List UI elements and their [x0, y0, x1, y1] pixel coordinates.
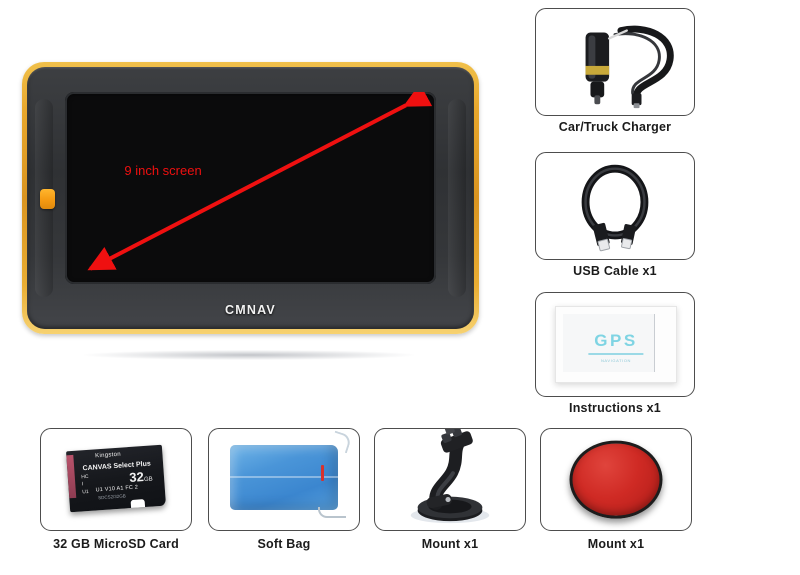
- bag-red-tag: [321, 465, 324, 481]
- booklet-cover: GPS NAVIGATION: [555, 306, 677, 382]
- device-side-groove-right: [448, 99, 466, 297]
- card-part-code: SDCS2/32GB: [98, 494, 126, 501]
- accessory-panel-mount-suction: [374, 428, 526, 531]
- device-drop-shadow: [84, 350, 414, 360]
- card-rating: U1 V10 A1 FC 2: [95, 484, 138, 493]
- device-inner-body: 9 inch screen CMNAV: [27, 67, 474, 329]
- card-capacity: 32GB: [129, 469, 153, 486]
- usb-cable-icon: [536, 153, 694, 259]
- card-class-badges: HCIU1: [81, 474, 90, 496]
- card-bottom-notch: [131, 499, 145, 509]
- microsd-card-icon: Kingston CANVAS Select Plus 32GB HCIU1 U…: [41, 429, 191, 530]
- label-instructions: Instructions x1: [535, 401, 695, 415]
- accessory-panel-car-truck-charger: [535, 8, 695, 116]
- card-side-stripe: [66, 455, 76, 499]
- label-soft-bag: Soft Bag: [208, 537, 360, 551]
- power-button[interactable]: [40, 189, 55, 209]
- label-microsd-card: 32 GB MicroSD Card: [30, 537, 202, 551]
- booklet-logo-rule: [588, 353, 643, 355]
- gps-device-image: 9 inch screen CMNAV: [22, 62, 479, 334]
- suction-mount-icon: [375, 429, 525, 530]
- label-mount-disc: Mount x1: [540, 537, 692, 551]
- label-car-truck-charger: Car/Truck Charger: [535, 120, 695, 134]
- product-accessory-layout: 9 inch screen CMNAV: [0, 0, 800, 575]
- accessory-panel-microsd-card: Kingston CANVAS Select Plus 32GB HCIU1 U…: [40, 428, 192, 531]
- card-brand: Kingston: [95, 451, 121, 459]
- dashboard-disc-icon: [541, 429, 691, 530]
- accessory-panel-usb-cable: [535, 152, 695, 260]
- device-screen: 9 inch screen: [65, 92, 436, 284]
- booklet-logo-subtitle: NAVIGATION: [601, 358, 631, 363]
- accessory-panel-instructions: GPS NAVIGATION: [535, 292, 695, 397]
- soft-bag-body: [230, 445, 338, 510]
- booklet-gps-logo: GPS: [594, 331, 637, 351]
- device-brand-logo: CMNAV: [27, 303, 474, 317]
- instruction-booklet-icon: GPS NAVIGATION: [536, 293, 694, 396]
- bag-drawstring-bottom: [318, 507, 346, 518]
- disc-mount-body: [570, 440, 663, 519]
- accessory-panel-mount-disc: [540, 428, 692, 531]
- label-mount-suction: Mount x1: [374, 537, 526, 551]
- soft-bag-icon: [209, 429, 359, 530]
- car-charger-icon: [536, 9, 694, 115]
- card-capacity-unit: GB: [144, 477, 153, 484]
- card-capacity-value: 32: [129, 469, 144, 485]
- microsd-card-body: Kingston CANVAS Select Plus 32GB HCIU1 U…: [66, 445, 166, 512]
- diagonal-measure-arrow: [65, 92, 436, 284]
- device-outer-bezel: 9 inch screen CMNAV: [22, 62, 479, 334]
- label-usb-cable: USB Cable x1: [535, 264, 695, 278]
- accessory-panel-soft-bag: [208, 428, 360, 531]
